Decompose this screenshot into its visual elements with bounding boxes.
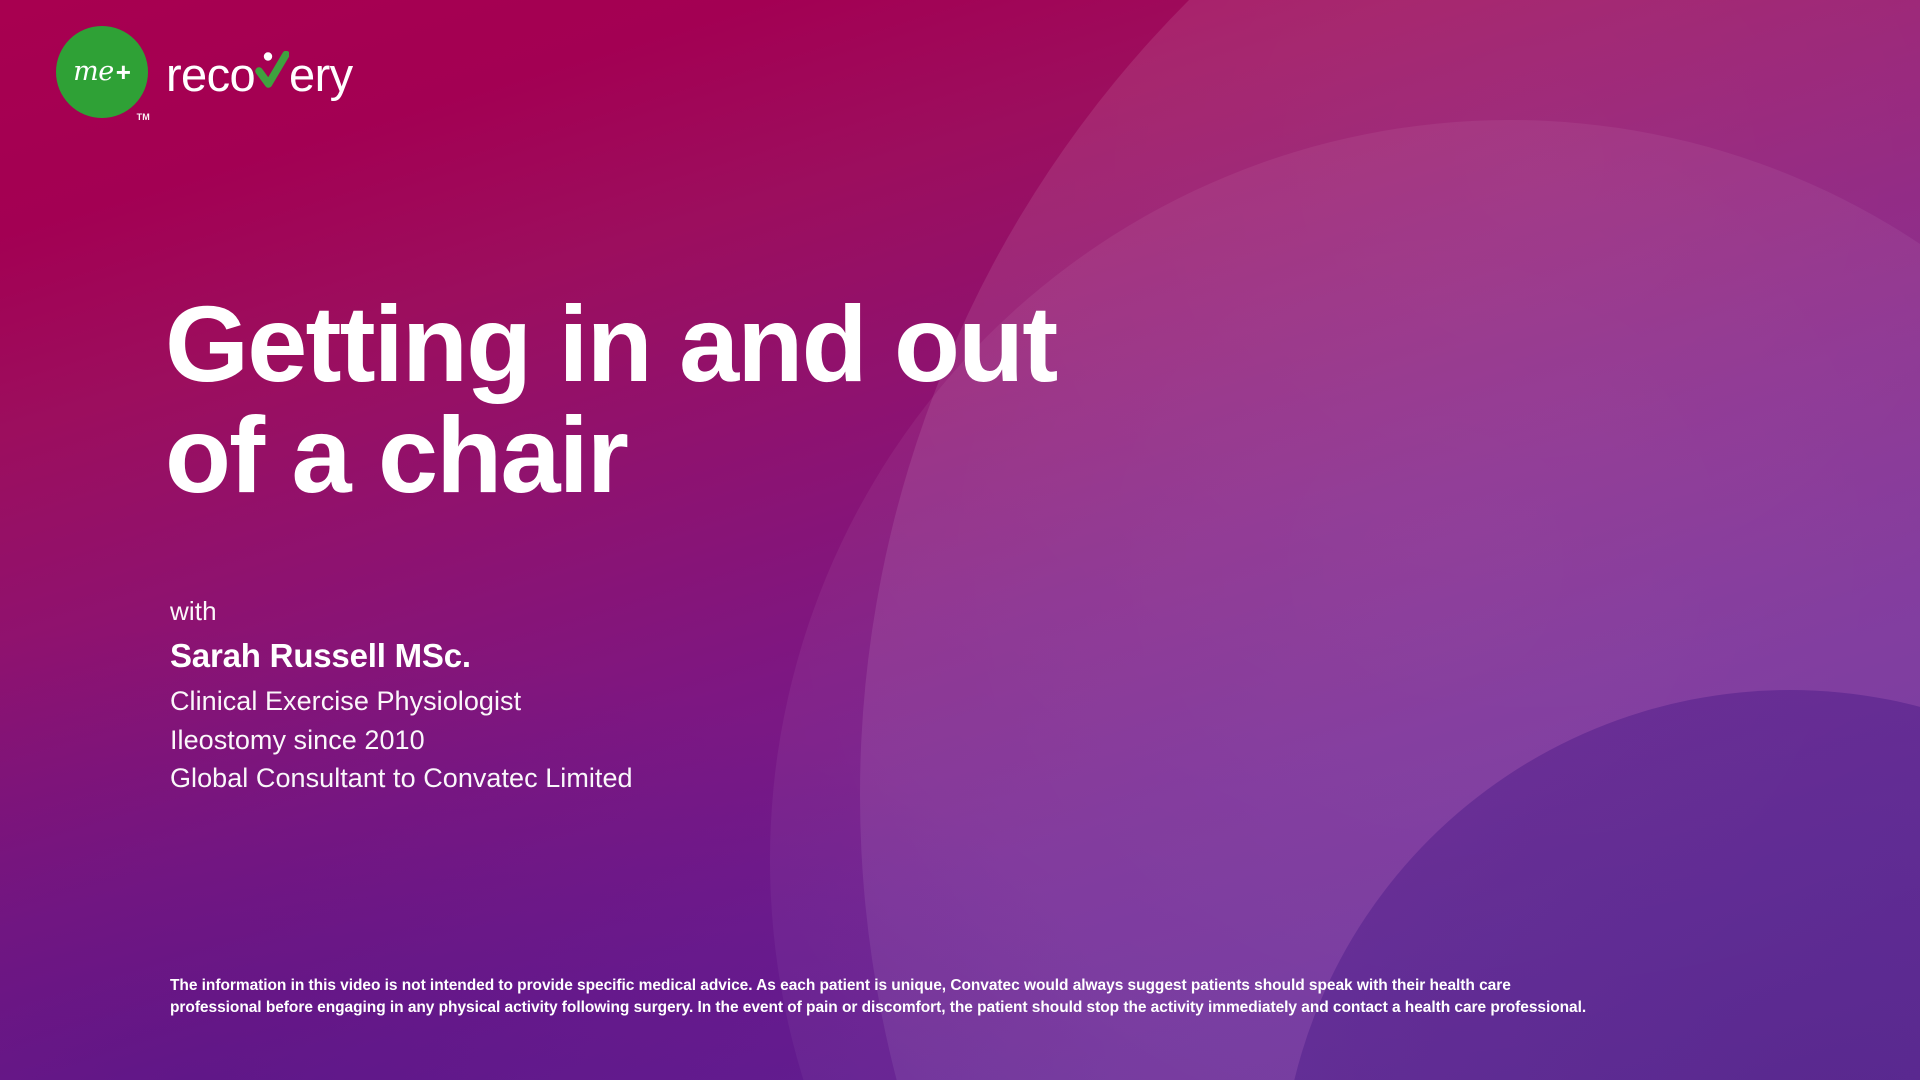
presenter-block: with Sarah Russell MSc. Clinical Exercis… bbox=[170, 595, 633, 797]
title-block: Getting in and out of a chair bbox=[165, 288, 1056, 510]
wordmark-suffix: ery bbox=[289, 51, 353, 98]
badge-plus-icon: + bbox=[116, 59, 131, 85]
presenter-with-label: with bbox=[170, 595, 633, 628]
title-slide: me + TM reco ery Getting in and out of a… bbox=[0, 0, 1920, 1080]
background-vignette bbox=[0, 0, 1920, 1080]
page-title: Getting in and out of a chair bbox=[165, 288, 1056, 510]
recovery-wordmark: reco ery bbox=[166, 47, 353, 98]
green-check-v-icon bbox=[255, 51, 289, 95]
presenter-credential-2: Ileostomy since 2010 bbox=[170, 721, 633, 759]
presenter-credential-1: Clinical Exercise Physiologist bbox=[170, 682, 633, 720]
medical-disclaimer: The information in this video is not int… bbox=[170, 975, 1600, 1020]
presenter-credential-3: Global Consultant to Convatec Limited bbox=[170, 759, 633, 797]
brand-logo: me + TM reco ery bbox=[56, 26, 353, 118]
wordmark-prefix: reco bbox=[166, 51, 255, 98]
presenter-name: Sarah Russell MSc. bbox=[170, 635, 633, 678]
me-plus-badge-icon: me + TM bbox=[56, 26, 148, 118]
background-circle-mid-icon bbox=[770, 120, 1920, 1080]
badge-me-text: me bbox=[73, 58, 114, 85]
background-circle-large-icon bbox=[860, 0, 1920, 1080]
trademark-mark: TM bbox=[137, 112, 150, 122]
background-circle-dark-icon bbox=[1280, 690, 1920, 1080]
